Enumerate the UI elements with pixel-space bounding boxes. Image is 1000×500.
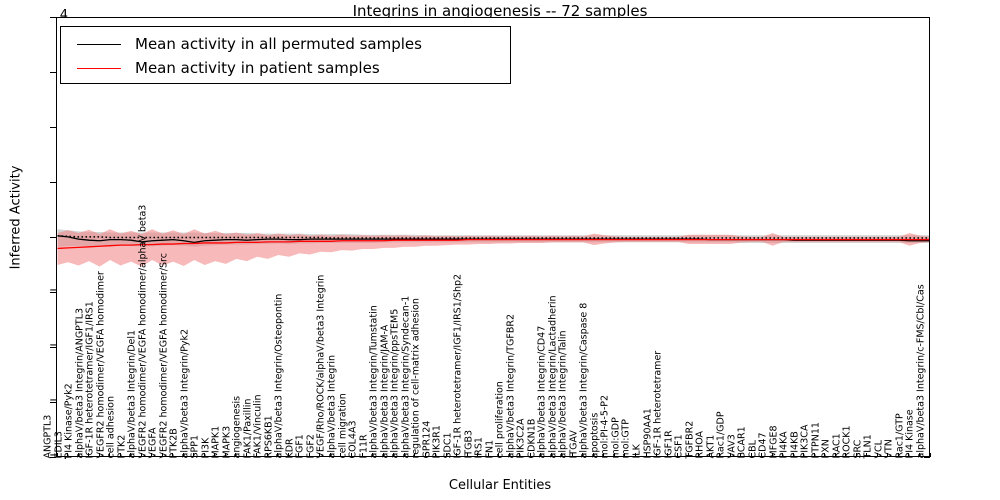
x-tick-label: ILK [633,444,643,458]
x-tick-mark [582,453,583,457]
x-tick-mark [204,453,205,457]
x-tick-mark [435,453,436,457]
x-tick-mark [425,453,426,457]
x-tick-mark [414,453,415,457]
x-tick-label: CD47 [759,432,769,458]
x-tick-label: VEGFA [149,427,159,458]
x-tick-label: FAK1/Vinculin [254,394,264,458]
x-tick-mark [456,453,457,457]
x-tick-label: alphaV/beta3 Integrin/Lactadherin [548,295,558,458]
x-tick-mark [624,453,625,457]
x-tick-mark [898,453,899,457]
x-tick-label: VEGF/Rho/ROCK/alphaV/beta3 Integrin [317,274,327,458]
x-tick-label: IGF-1R heterotetramer/IGF1/IRS1/Shp2 [454,273,464,458]
x-tick-mark [172,453,173,457]
x-tick-label: cell migration [338,393,348,458]
x-tick-mark [740,453,741,457]
x-tick-mark [709,453,710,457]
x-tick-label: alphaV/beta3 Integrin/Del1 [128,329,138,458]
x-tick-label: alphaV/beta3 Integrin/c-FMS/Cbl/Cas [917,284,927,458]
x-tick-mark [193,453,194,457]
x-tick-label: CDKN1B [527,418,537,458]
x-tick-mark [614,453,615,457]
x-tick-mark [561,453,562,457]
x-tick-mark [877,453,878,457]
x-tick-label: CBL [748,440,758,458]
x-tick-label: PTPN11 [811,422,821,458]
x-tick-label: KDR [285,438,295,458]
x-tick-label: HSP90AA1 [643,408,653,458]
x-tick-label: apoptosis [590,412,600,458]
x-tick-label: PIK3C2A [517,418,527,458]
x-tick-label: PXN [822,439,832,458]
x-tick-label: VCL [874,440,884,458]
x-tick-label: VEGFR2 homodimer/VEGFA homodimer/alphaV … [138,204,148,458]
x-tick-mark [635,453,636,457]
x-tick-label: mol:GTP [622,419,632,458]
x-tick-label: VAV3 [727,434,737,458]
x-tick-label: TLN1 [864,434,874,458]
x-tick-mark [803,453,804,457]
x-tick-mark [667,453,668,457]
x-tick-mark [488,453,489,457]
x-tick-label: ITGB3 [464,429,474,458]
x-tick-mark [277,453,278,457]
x-tick-mark [646,453,647,457]
x-tick-mark [109,453,110,457]
x-tick-mark [519,453,520,457]
x-tick-label: COL4A3 [349,420,359,458]
x-tick-mark [162,453,163,457]
x-tick-mark [235,453,236,457]
x-tick-mark [835,453,836,457]
x-tick-label: alphaV/beta3 Integrin/Pyk2 [180,328,190,458]
x-tick-mark [603,453,604,457]
x-tick-label: angiogenesis [233,395,243,458]
x-tick-label: IGF1R [664,430,674,458]
x-tick-label: PI4 Kinase [906,409,916,458]
x-tick-mark [362,453,363,457]
x-tick-label: PTK2B [170,428,180,458]
x-tick-label: CSF1 [675,434,685,458]
x-tick-label: SPP1 [191,434,201,458]
x-tick-mark [572,453,573,457]
x-tick-mark [698,453,699,457]
x-tick-label: TGFBR2 [685,420,695,458]
x-tick-label: PTK2 [117,434,127,458]
x-tick-label: MFGE8 [769,425,779,458]
x-tick-mark [751,453,752,457]
x-tick-mark [782,453,783,457]
x-tick-label: alphaV/beta3 Integrin/Syndecan-1 [401,295,411,458]
x-tick-mark [477,453,478,457]
x-tick-label: ANGPTL3 [44,414,54,458]
x-tick-mark [930,453,931,457]
x-tick-mark [340,453,341,457]
x-tick-mark [183,453,184,457]
x-tick-mark [383,453,384,457]
x-tick-label: PIK3R1 [433,425,443,458]
x-tick-mark [719,453,720,457]
x-tick-mark [793,453,794,457]
x-tick-mark [130,453,131,457]
x-tick-label: AKT1 [706,434,716,458]
x-tick-mark [498,453,499,457]
x-tick-mark [919,453,920,457]
x-tick-label: MAPK3 [222,425,232,458]
x-tick-label: MAPK1 [212,425,222,458]
x-tick-mark [551,453,552,457]
legend-label-permuted: Mean activity in all permuted samples [135,35,422,53]
x-tick-mark [404,453,405,457]
x-tick-mark [856,453,857,457]
x-tick-mark [151,453,152,457]
legend-line-permuted [77,44,121,45]
x-tick-mark [88,453,89,457]
x-tick-mark [256,453,257,457]
chart-legend: Mean activity in all permuted samples Me… [60,26,511,84]
x-tick-label: BCAR1 [738,426,748,458]
x-tick-mark [530,453,531,457]
x-tick-mark [99,453,100,457]
x-tick-mark [78,453,79,457]
x-tick-mark [761,453,762,457]
x-tick-label: FN1 [485,439,495,458]
legend-entry-patient: Mean activity in patient samples [69,56,502,80]
x-tick-label: ITGAV [569,430,579,458]
x-tick-label: cell adhesion [107,395,117,458]
x-tick-label: alphaV/beta3 Integrin/JAM-A [380,324,390,458]
x-tick-mark [67,453,68,457]
x-tick-mark [845,453,846,457]
x-tick-mark [372,453,373,457]
x-tick-mark [288,453,289,457]
x-tick-mark [246,453,247,457]
x-tick-mark [814,453,815,457]
x-tick-label: mol:PI-4-5-P2 [601,394,611,458]
x-tick-label: PI3K [201,437,211,458]
band-patient-band [58,229,931,266]
x-tick-mark [593,453,594,457]
x-tick-label: alphaV/beta3 Integrin/ANGPTL3 [75,307,85,458]
x-tick-label: alphaV/beta3 Integrin [327,354,337,458]
x-tick-label: regulation of cell-matrix adhesion [412,298,422,458]
x-tick-mark [214,453,215,457]
x-tick-label: EDIL3 [54,431,64,458]
x-tick-label: FGF1 [296,434,306,458]
x-tick-label: FAK1/Paxillin [243,398,253,458]
x-tick-mark [887,453,888,457]
x-tick-mark [57,453,58,457]
x-tick-label: IGF-1R heterotetramer [654,350,664,458]
x-tick-label: IGF-1R heterotetramer/IGF1/IRS1 [86,301,96,458]
legend-label-patient: Mean activity in patient samples [135,59,380,77]
x-tick-label: Rac1/GDP [717,411,727,458]
x-tick-mark [467,453,468,457]
x-tick-mark [446,453,447,457]
x-tick-label: alphaV/beta3 Integrin/Osteopontin [275,293,285,458]
x-tick-mark [677,453,678,457]
x-tick-mark [772,453,773,457]
x-tick-mark [319,453,320,457]
y-axis-label: Inferred Activity [9,138,24,298]
x-tick-mark [908,453,909,457]
x-tick-mark [393,453,394,457]
x-tick-mark [656,453,657,457]
x-tick-mark [688,453,689,457]
x-tick-mark [824,453,825,457]
x-tick-label: PI4KB [790,431,800,458]
x-tick-mark [730,453,731,457]
x-tick-mark [309,453,310,457]
x-tick-label: alphaV/beta3 Integrin/Caspase 8 [580,302,590,458]
x-axis-label: Cellular Entities [0,478,1000,493]
x-tick-label: alphaV/beta3 Integrin/CD47 [538,325,548,458]
x-tick-mark [509,453,510,457]
x-tick-label: ROCK1 [843,425,853,458]
x-tick-mark [120,453,121,457]
x-tick-mark [866,453,867,457]
x-tick-label: FGF2 [306,434,316,458]
x-tick-mark [540,453,541,457]
x-tick-label: RPS6KB1 [264,415,274,458]
x-tick-label: PI4KA [780,431,790,458]
x-tick-label: alphaV/beta3 Integrin/ppsTEM5 [391,308,401,458]
x-tick-label: VEGFR2 homodimer/VEGFA homodimer [96,271,106,458]
x-tick-label: PI4 Kinase/Pyk2 [65,383,75,458]
x-tick-label: SRC [853,439,863,458]
x-tick-mark [298,453,299,457]
chart-root: Integrins in angiogenesis -- 72 samples … [0,0,1000,500]
x-tick-label: VTN [885,439,895,458]
x-tick-label: GPR124 [422,420,432,458]
x-tick-label: VEGFR2 homodimer/VEGFA homodimer/Src [159,253,169,458]
legend-line-patient [77,68,121,69]
x-tick-mark [351,453,352,457]
x-tick-mark [225,453,226,457]
x-tick-label: IRS1 [475,437,485,458]
x-tick-mark [330,453,331,457]
x-tick-label: alphaV/beta3 Integrin/Talin [559,330,569,458]
x-tick-mark [141,453,142,457]
legend-entry-permuted: Mean activity in all permuted samples [69,32,502,56]
x-tick-label: RHOA [696,430,706,458]
x-tick-label: PIK3CA [801,424,811,458]
x-tick-label: SDC1 [443,432,453,458]
x-tick-label: alphaV/beta3 Integrin/TGFBR2 [506,314,516,459]
x-tick-label: RAC1 [832,433,842,458]
x-tick-label: F11R [359,434,369,458]
x-tick-label: cell proliferation [496,381,506,458]
x-tick-label: alphaV/beta3 Integrin/Tumstatin [370,305,380,458]
x-tick-mark [267,453,268,457]
